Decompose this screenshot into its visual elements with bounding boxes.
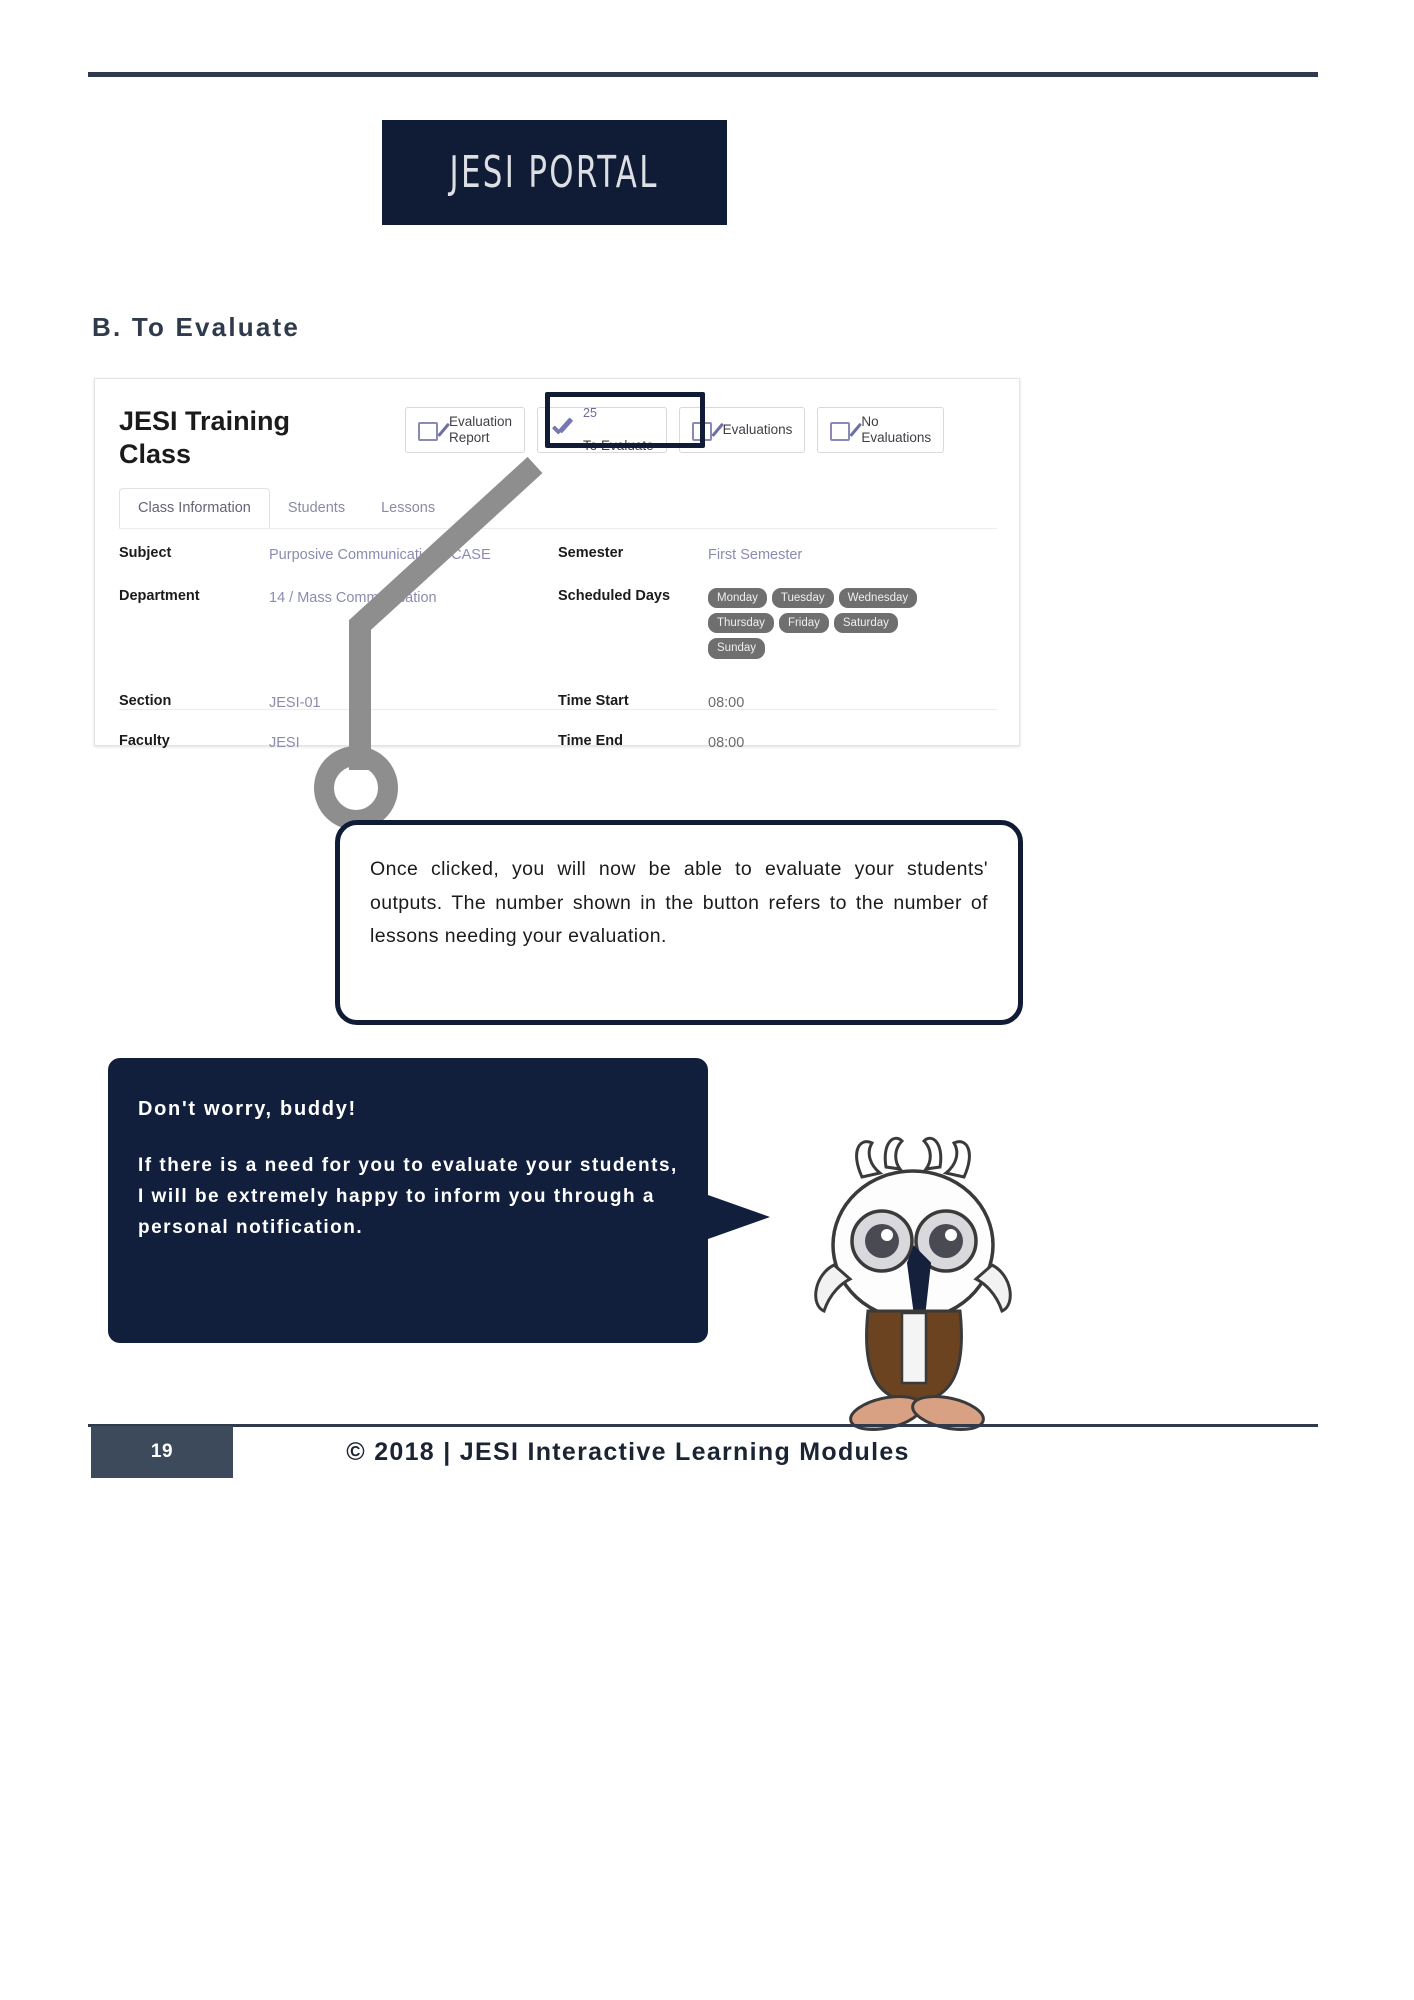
detail-row: Faculty JESI Time End 08:00 <box>119 729 997 758</box>
pencil-square-icon <box>418 420 440 440</box>
scheduled-days-value: MondayTuesdayWednesdayThursdayFridaySatu… <box>708 584 997 663</box>
speech-bubble-tail <box>708 1195 770 1239</box>
day-badge: Saturday <box>834 613 898 633</box>
page-root: JESI PORTAL B. To Evaluate JESI Training… <box>0 0 1414 2000</box>
detail-row: Section JESI-01 Time Start 08:00 <box>119 689 997 718</box>
pencil-square-icon <box>692 420 714 440</box>
day-badge: Thursday <box>708 613 774 633</box>
class-details: Subject Purposive Communication - CASE S… <box>119 541 997 758</box>
no-evaluations-label: No Evaluations <box>861 414 931 447</box>
subject-value: Purposive Communication - CASE <box>269 541 558 570</box>
page-title: JESI PORTAL <box>450 147 659 198</box>
evaluations-label: Evaluations <box>723 422 793 438</box>
semester-label: Semester <box>558 541 708 570</box>
tab-underline <box>119 528 997 529</box>
footer-copyright: © 2018 | JESI Interactive Learning Modul… <box>233 1426 1023 1478</box>
time-end-value: 08:00 <box>708 729 997 758</box>
department-value: 14 / Mass Communication <box>269 584 558 663</box>
day-badge: Monday <box>708 588 767 608</box>
owl-mascot-icon <box>790 1115 1030 1445</box>
page-number-badge: 19 <box>91 1426 233 1478</box>
check-icon <box>550 419 574 441</box>
detail-row: Subject Purposive Communication - CASE S… <box>119 541 997 570</box>
time-start-label: Time Start <box>558 689 708 718</box>
pencil-square-icon <box>830 420 852 440</box>
to-evaluate-count: 25 <box>583 406 654 421</box>
to-evaluate-button[interactable]: 25 To Evaluate <box>537 407 667 453</box>
scheduled-days-label: Scheduled Days <box>558 584 708 663</box>
day-badge-list: MondayTuesdayWednesdayThursdayFridaySatu… <box>708 588 953 659</box>
callout-bubble: Once clicked, you will now be able to ev… <box>335 820 1023 1025</box>
detail-row: Department 14 / Mass Communication Sched… <box>119 584 997 663</box>
section-value: JESI-01 <box>269 689 558 718</box>
day-badge: Sunday <box>708 638 765 658</box>
day-badge: Friday <box>779 613 829 633</box>
section-heading: B. To Evaluate <box>92 312 300 343</box>
faculty-value: JESI <box>269 729 558 758</box>
section-label: Section <box>119 689 269 718</box>
app-screenshot-panel: JESI Training Class Evaluation Report 25… <box>94 378 1020 746</box>
faculty-label: Faculty <box>119 729 269 758</box>
mascot-speech-bubble: Don't worry, buddy! If there is a need f… <box>108 1058 708 1343</box>
tab-class-information[interactable]: Class Information <box>119 488 270 528</box>
callout-text: Once clicked, you will now be able to ev… <box>370 853 988 954</box>
department-label: Department <box>119 584 269 663</box>
evaluations-button[interactable]: Evaluations <box>679 407 806 453</box>
evaluation-report-button[interactable]: Evaluation Report <box>405 407 525 453</box>
day-badge: Tuesday <box>772 588 834 608</box>
time-start-value: 08:00 <box>708 689 997 718</box>
time-end-label: Time End <box>558 729 708 758</box>
toolbar: Evaluation Report 25 To Evaluate Eva <box>405 407 944 453</box>
to-evaluate-label: 25 To Evaluate <box>583 389 654 470</box>
evaluation-report-label: Evaluation Report <box>449 414 512 447</box>
class-title: JESI Training Class <box>119 405 349 471</box>
panel-bottom-divider <box>119 709 997 710</box>
semester-value: First Semester <box>708 541 997 570</box>
subject-label: Subject <box>119 541 269 570</box>
mascot-bubble-body: If there is a need for you to evaluate y… <box>138 1151 678 1243</box>
top-divider <box>88 72 1318 77</box>
to-evaluate-text: To Evaluate <box>583 438 654 454</box>
no-evaluations-button[interactable]: No Evaluations <box>817 407 944 453</box>
day-badge: Wednesday <box>839 588 918 608</box>
page-title-banner: JESI PORTAL <box>382 120 727 225</box>
tab-students[interactable]: Students <box>270 489 363 527</box>
mascot-bubble-title: Don't worry, buddy! <box>138 1098 678 1121</box>
tab-bar: Class Information Students Lessons <box>119 487 453 527</box>
tab-lessons[interactable]: Lessons <box>363 489 453 527</box>
